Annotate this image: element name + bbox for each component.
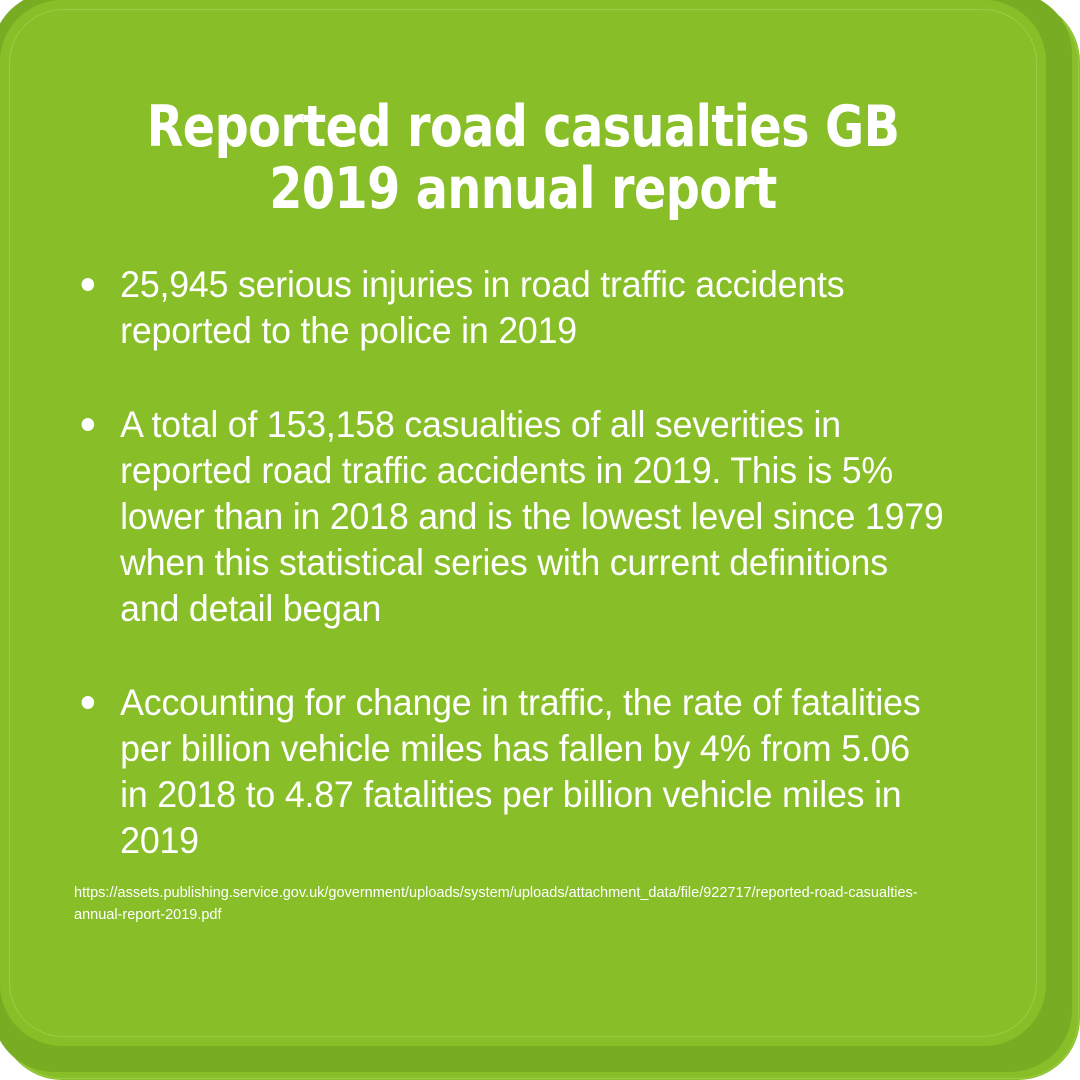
- list-item-text: A total of 153,158 casualties of all sev…: [120, 404, 943, 629]
- slide-canvas: Reported road casualties GB 2019 annual …: [0, 0, 1080, 1080]
- card-title: Reported road casualties GB 2019 annual …: [102, 0, 945, 220]
- bullet-dot-icon: [82, 696, 95, 709]
- bullet-dot-icon: [82, 278, 95, 291]
- source-url-link[interactable]: https://assets.publishing.service.gov.uk…: [70, 882, 934, 926]
- list-item-text: Accounting for change in traffic, the ra…: [120, 682, 920, 861]
- list-item: A total of 153,158 casualties of all sev…: [70, 402, 944, 632]
- list-item-text: 25,945 serious injuries in road traffic …: [120, 264, 844, 351]
- list-item: Accounting for change in traffic, the ra…: [70, 680, 944, 864]
- list-item: 25,945 serious injuries in road traffic …: [70, 262, 944, 354]
- card-content: Reported road casualties GB 2019 annual …: [0, 0, 1046, 1046]
- key-facts-list: 25,945 serious injuries in road traffic …: [70, 220, 976, 864]
- bullet-dot-icon: [82, 418, 95, 431]
